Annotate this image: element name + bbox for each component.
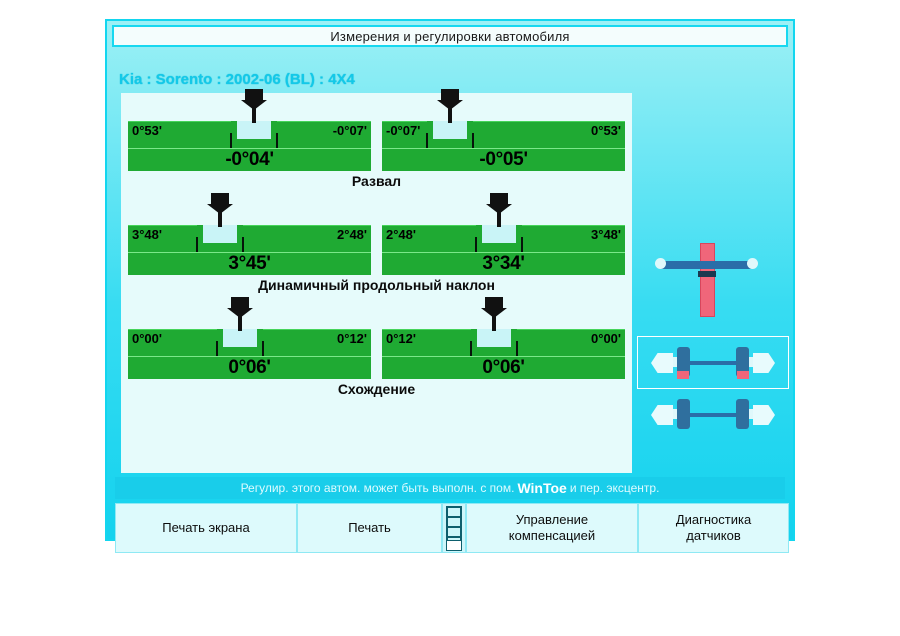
measurement-label: Развал	[121, 173, 632, 189]
measurement-label: Динамичный продольный наклон	[121, 277, 632, 293]
steering-knob-right-icon	[747, 258, 758, 269]
gauge-value: 3°45'	[228, 254, 270, 273]
steering-knob-left-icon	[655, 258, 666, 269]
steering-wheel-bar-icon	[660, 261, 752, 269]
gauge-value: -0°05'	[479, 150, 527, 169]
gauge-camber-left[interactable]: 0°53' -0°07' -0°04'	[128, 107, 371, 171]
page-title: Измерения и регулировки автомобиля	[330, 29, 569, 44]
scroll-thumb[interactable]	[446, 540, 462, 551]
gauge-toe-right[interactable]: 0°12' 0°00' 0°06'	[382, 315, 625, 379]
gauge-value-bar: 0°06'	[128, 356, 371, 379]
gauge-value-bar: 3°45'	[128, 252, 371, 275]
hint-prefix: Регулир. этого автом. может быть выполн.…	[241, 481, 515, 495]
gauge-spec-max: -0°07'	[333, 124, 367, 137]
measurement-row-caster: 3°48' 2°48' 3°45' 2°48' 3°48' 3°34'	[121, 211, 632, 293]
gauge-tolerance-band	[128, 225, 371, 252]
front-axle-selection-box	[637, 336, 789, 389]
measurement-row-camber: 0°53' -0°07' -0°04' -0°07' 0°53' -0°05'	[121, 107, 632, 189]
gauge-spec-max: 0°12'	[337, 332, 367, 345]
gauge-spec-min: 0°53'	[132, 124, 162, 137]
gauge-value: -0°04'	[225, 150, 273, 169]
diagnostics-label-line2: датчиков	[686, 528, 741, 543]
compensation-management-button[interactable]: Управление компенсацией	[466, 503, 638, 553]
gauge-spec-min: 2°48'	[386, 228, 416, 241]
vehicle-identification-label: Kia : Sorento : 2002-06 (BL) : 4X4	[119, 71, 355, 88]
vehicle-diagram-panel[interactable]	[637, 93, 789, 473]
steering-column-icon	[700, 243, 715, 317]
measurements-panel: 0°53' -0°07' -0°04' -0°07' 0°53' -0°05'	[121, 93, 632, 473]
print-screen-button[interactable]: Печать экрана	[115, 503, 297, 553]
gauge-tolerance-band	[382, 329, 625, 356]
gauge-tolerance-band	[382, 225, 625, 252]
gauge-value-bar: -0°05'	[382, 148, 625, 171]
scroll-ladder-widget[interactable]	[442, 503, 466, 553]
print-button[interactable]: Печать	[297, 503, 442, 553]
measurement-label: Схождение	[121, 381, 632, 397]
hint-suffix: и пер. эксцентр.	[570, 481, 660, 495]
pointer-arrow-icon	[227, 297, 253, 331]
gauge-spec-max: 2°48'	[337, 228, 367, 241]
gauge-value-bar: -0°04'	[128, 148, 371, 171]
diagnostics-label-line1: Диагностика	[676, 512, 751, 527]
gauge-caster-left[interactable]: 3°48' 2°48' 3°45'	[128, 211, 371, 275]
wintoe-brand-label: WinToe	[514, 480, 569, 496]
gauge-value: 0°06'	[482, 358, 524, 377]
gauge-spec-min: 3°48'	[132, 228, 162, 241]
gauge-caster-right[interactable]: 2°48' 3°48' 3°34'	[382, 211, 625, 275]
pointer-arrow-icon	[437, 89, 463, 123]
gauge-spec-max: 3°48'	[591, 228, 621, 241]
gauge-value-bar: 3°34'	[382, 252, 625, 275]
gauge-value: 0°06'	[228, 358, 270, 377]
compensation-label-line1: Управление	[516, 512, 588, 527]
gauge-spec-min: -0°07'	[386, 124, 420, 137]
print-label: Печать	[348, 520, 391, 536]
pointer-arrow-icon	[207, 193, 233, 227]
rear-axle-icon[interactable]	[637, 393, 789, 437]
pointer-arrow-icon	[486, 193, 512, 227]
gauge-spec-max: 0°53'	[591, 124, 621, 137]
gauge-spec-min: 0°12'	[386, 332, 416, 345]
gauge-spec-min: 0°00'	[132, 332, 162, 345]
compensation-label-line2: компенсацией	[509, 528, 595, 543]
application-window: Измерения и регулировки автомобиля Kia :…	[105, 19, 795, 541]
sensor-diagnostics-button[interactable]: Диагностика датчиков	[638, 503, 789, 553]
gauge-tolerance-band	[128, 329, 371, 356]
print-screen-label: Печать экрана	[162, 520, 249, 536]
adjustment-hint-strip: Регулир. этого автом. может быть выполн.…	[115, 477, 785, 499]
gauge-value-bar: 0°06'	[382, 356, 625, 379]
bottom-toolbar: Печать экрана Печать Управление компенса…	[115, 503, 789, 553]
gauge-spec-max: 0°00'	[591, 332, 621, 345]
pointer-arrow-icon	[241, 89, 267, 123]
title-bar: Измерения и регулировки автомобиля	[112, 25, 788, 47]
steering-clamp-icon	[698, 271, 716, 277]
gauge-camber-right[interactable]: -0°07' 0°53' -0°05'	[382, 107, 625, 171]
gauge-value: 3°34'	[482, 254, 524, 273]
pointer-arrow-icon	[481, 297, 507, 331]
gauge-toe-left[interactable]: 0°00' 0°12' 0°06'	[128, 315, 371, 379]
measurement-row-toe: 0°00' 0°12' 0°06' 0°12' 0°00' 0°06'	[121, 315, 632, 397]
